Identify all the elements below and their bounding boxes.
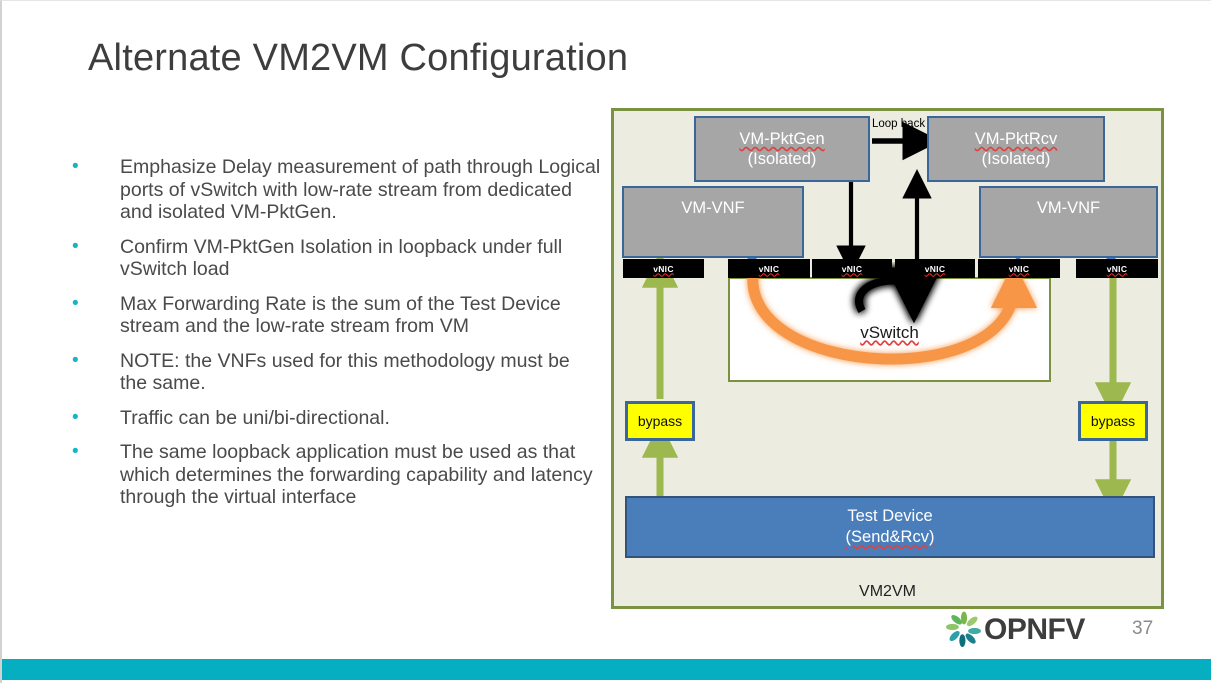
vnic-5[interactable]: vNIC [978,259,1060,278]
bypass-left-box[interactable]: bypass [625,401,695,441]
vm-pktgen-line1: VM-PktGen [739,129,824,149]
vm-pktrcv-line1: VM-PktRcv [975,129,1058,149]
vnic-1[interactable]: vNIC [623,259,704,278]
vm-vnf-left-label: VM-VNF [681,198,744,218]
bullet-marker-icon: • [62,236,120,258]
vnic-3[interactable]: vNIC [812,259,892,278]
list-item-label: NOTE: the VNFs used for this methodology… [120,350,602,395]
list-item: • Max Forwarding Rate is the sum of the … [62,293,602,338]
vnic-label: vNIC [1009,264,1030,274]
list-item: • Emphasize Delay measurement of path th… [62,156,602,224]
vnic-2[interactable]: vNIC [728,259,810,278]
vswitch-label: vSwitch [730,323,1049,343]
bullet-marker-icon: • [62,441,120,463]
list-item-label: The same loopback application must be us… [120,441,602,509]
vnic-label: vNIC [759,264,780,274]
bullet-list: • Emphasize Delay measurement of path th… [62,156,602,521]
opnfv-wordmark: OPNFV [984,613,1085,646]
vswitch-box: vSwitch [728,277,1051,382]
vnic-label: vNIC [842,264,863,274]
list-item: • Traffic can be uni/bi-directional. [62,407,602,430]
vm-pktrcv-box[interactable]: VM-PktRcv (Isolated) [927,116,1105,182]
footer-accent-bar [2,659,1211,680]
vm2vm-frame-label: VM2VM [614,583,1161,601]
test-device-line1: Test Device [847,506,932,527]
vm-pktgen-line2: (Isolated) [748,149,817,169]
vm-vnf-right-label: VM-VNF [1037,198,1100,218]
bypass-left-label: bypass [638,413,682,429]
page-number: 37 [1132,618,1153,640]
vnic-label: vNIC [1107,264,1128,274]
vnic-6[interactable]: vNIC [1076,259,1158,278]
bypass-right-box[interactable]: bypass [1078,401,1148,441]
opnfv-logo: OPNFV [944,610,1114,648]
list-item-label: Traffic can be uni/bi-directional. [120,407,602,430]
list-item: • The same loopback application must be … [62,441,602,509]
vm2vm-diagram: vSwitch [611,108,1164,609]
list-item-label: Max Forwarding Rate is the sum of the Te… [120,293,602,338]
list-item-label: Emphasize Delay measurement of path thro… [120,156,602,224]
bullet-marker-icon: • [62,350,120,372]
vnic-label: vNIC [653,264,674,274]
vm-vnf-right-box[interactable]: VM-VNF [979,186,1158,258]
bullet-marker-icon: • [62,293,120,315]
list-item: • NOTE: the VNFs used for this methodolo… [62,350,602,395]
list-item-label: Confirm VM-PktGen Isolation in loopback … [120,236,602,281]
bullet-marker-icon: • [62,407,120,429]
test-device-box[interactable]: Test Device (Send&Rcv) [625,496,1155,558]
vm-vnf-left-box[interactable]: VM-VNF [622,186,804,258]
vm-pktgen-box[interactable]: VM-PktGen (Isolated) [694,116,870,182]
opnfv-petal-icon [946,612,981,647]
page-title: Alternate VM2VM Configuration [88,37,628,80]
bullet-marker-icon: • [62,156,120,178]
loop-back-label: Loop back [872,118,925,130]
vnic-label: vNIC [925,264,946,274]
bypass-right-label: bypass [1091,413,1135,429]
list-item: • Confirm VM-PktGen Isolation in loopbac… [62,236,602,281]
vm-pktrcv-line2: (Isolated) [982,149,1051,169]
vnic-4[interactable]: vNIC [895,259,975,278]
test-device-line2: (Send&Rcv) [846,527,935,548]
